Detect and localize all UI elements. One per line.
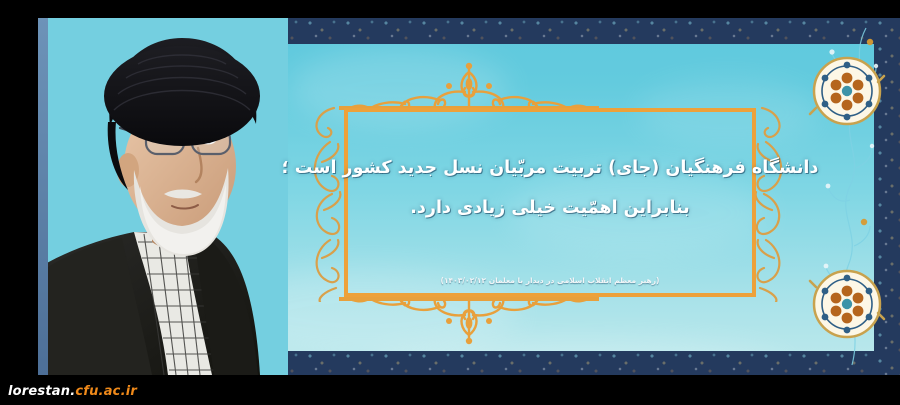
watermark-suffix: cfu.ac.ir: [75, 384, 137, 399]
banner-image: دانشگاه فرهنگیان (جای) تربیت مربّیان نسل…: [38, 18, 900, 375]
portrait-photo: [48, 18, 288, 375]
screenshot-canvas: دانشگاه فرهنگیان (جای) تربیت مربّیان نسل…: [0, 0, 900, 405]
watermark-prefix: lorestan.: [8, 384, 75, 399]
arabesque-scroll-right: [750, 102, 796, 302]
quote-line-2: بنابراین اهمّیت خیلی زیادی دارد.: [410, 195, 690, 221]
quote-text-block: دانشگاه فرهنگیان (جای) تربیت مربّیان نسل…: [356, 118, 744, 258]
quote-attribution: (رهبر معظم انقلاب اسلامی در دیدار با معل…: [356, 276, 744, 285]
arabesque-crest-bottom: [339, 297, 599, 345]
quote-line-1: دانشگاه فرهنگیان (جای) تربیت مربّیان نسل…: [282, 155, 819, 181]
corner-medallion-top-right: [808, 52, 886, 130]
corner-medallion-bottom-right: [808, 265, 886, 343]
site-watermark: lorestan.cfu.ac.ir: [8, 384, 137, 399]
arabesque-crest-top: [339, 62, 599, 110]
arabesque-scroll-left: [300, 102, 346, 302]
